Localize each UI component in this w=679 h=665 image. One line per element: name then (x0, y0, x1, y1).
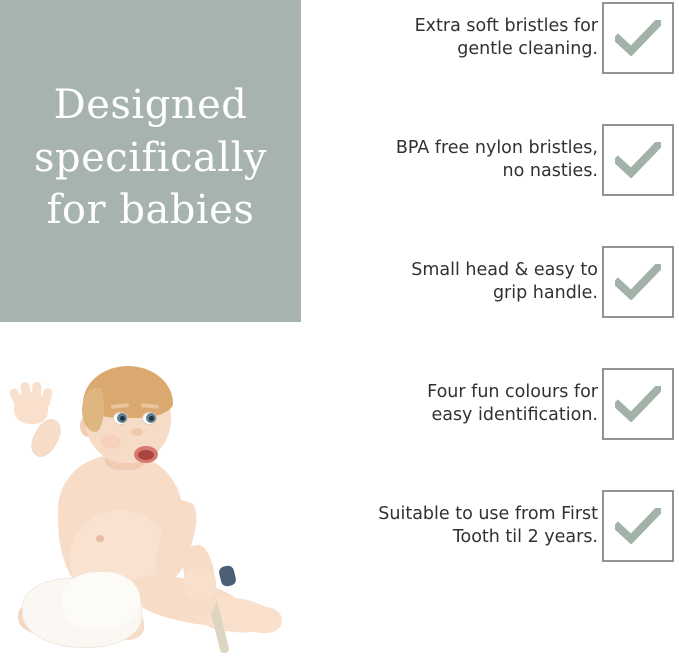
baby-nose (131, 428, 143, 436)
feature-text-4: Four fun colours for easy identification… (326, 381, 602, 428)
check-icon (615, 264, 661, 300)
page-title: Designed specifically for babies (24, 79, 277, 243)
feature-checkbox-4[interactable] (602, 368, 674, 440)
baby-diaper-front (62, 572, 140, 630)
feature-text-1: Extra soft bristles for gentle cleaning. (326, 15, 602, 62)
baby-foot-front (248, 607, 282, 633)
baby-pupil-right (149, 416, 154, 421)
baby-product-photo (0, 330, 301, 665)
feature-row-1: Extra soft bristles for gentle cleaning. (301, 2, 679, 74)
baby-finger-4 (40, 387, 54, 409)
feature-checkbox-5[interactable] (602, 490, 674, 562)
check-icon (615, 508, 661, 544)
feature-row-2: BPA free nylon bristles, no nasties. (301, 124, 679, 196)
feature-checkbox-1[interactable] (602, 2, 674, 74)
feature-row-4: Four fun colours for easy identification… (301, 368, 679, 440)
left-column: Designed specifically for babies (0, 0, 301, 665)
feature-list: Extra soft bristles for gentle cleaning.… (301, 0, 679, 665)
baby-cheek (101, 435, 121, 449)
feature-row-5: Suitable to use from First Tooth til 2 y… (301, 490, 679, 562)
baby-mouth-inner (138, 450, 154, 460)
check-icon (615, 20, 661, 56)
check-icon (615, 142, 661, 178)
baby-navel (96, 535, 104, 542)
feature-text-3: Small head & easy to grip handle. (326, 259, 602, 306)
baby-hand-holding-toothbrush (184, 568, 216, 600)
feature-row-3: Small head & easy to grip handle. (301, 246, 679, 318)
feature-checkbox-2[interactable] (602, 124, 674, 196)
check-icon (615, 386, 661, 422)
feature-text-2: BPA free nylon bristles, no nasties. (326, 137, 602, 184)
feature-checkbox-3[interactable] (602, 246, 674, 318)
baby-hair-side (82, 388, 104, 432)
baby-pupil-left (120, 416, 125, 421)
toothbrush-head (218, 564, 237, 587)
hero-panel: Designed specifically for babies (0, 0, 301, 322)
feature-text-5: Suitable to use from First Tooth til 2 y… (326, 503, 602, 550)
